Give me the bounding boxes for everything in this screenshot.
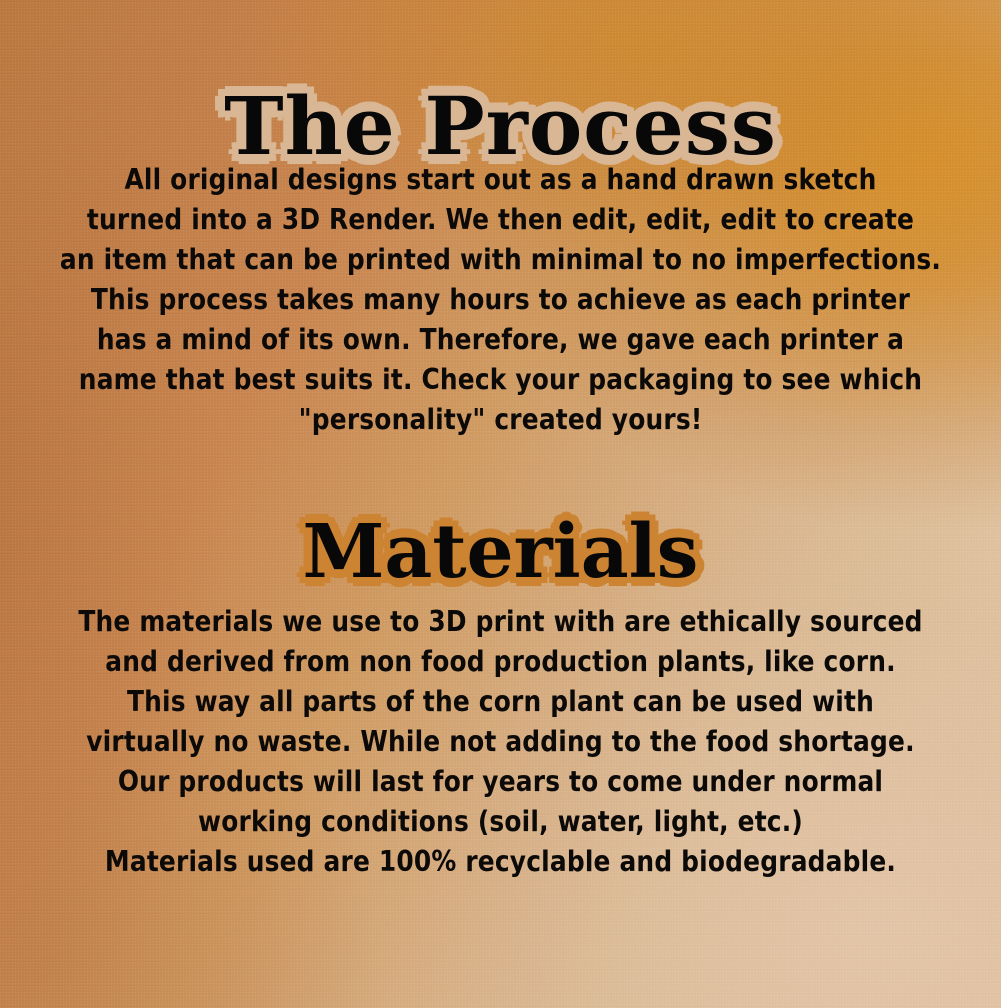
text-line: This way all parts of the corn plant can… [15, 682, 986, 722]
text-line: The materials we use to 3D print with ar… [15, 602, 986, 642]
text-line: name that best suits it. Check your pack… [15, 360, 986, 400]
text-line: has a mind of its own. Therefore, we gav… [15, 320, 986, 360]
text-line: All original designs start out as a hand… [15, 160, 986, 200]
text-line: and derived from non food production pla… [15, 642, 986, 682]
heading-the-process: The Process [0, 86, 1001, 166]
process-and-materials-poster: The Process All original designs start o… [0, 0, 1001, 1008]
text-line: an item that can be printed with minimal… [15, 240, 986, 280]
text-line: virtually no waste. While not adding to … [15, 722, 986, 762]
paragraph-materials: The materials we use to 3D print with ar… [15, 602, 986, 882]
text-line: This process takes many hours to achieve… [15, 280, 986, 320]
text-line: Materials used are 100% recyclable and b… [15, 842, 986, 882]
text-line: turned into a 3D Render. We then edit, e… [15, 200, 986, 240]
text-line: Our products will last for years to come… [15, 762, 986, 802]
paragraph-the-process: All original designs start out as a hand… [15, 160, 986, 440]
text-line: working conditions (soil, water, light, … [15, 802, 986, 842]
poster-content: The Process All original designs start o… [0, 0, 1001, 1008]
heading-materials: Materials [0, 515, 1001, 589]
text-line: "personality" created yours! [15, 400, 986, 440]
